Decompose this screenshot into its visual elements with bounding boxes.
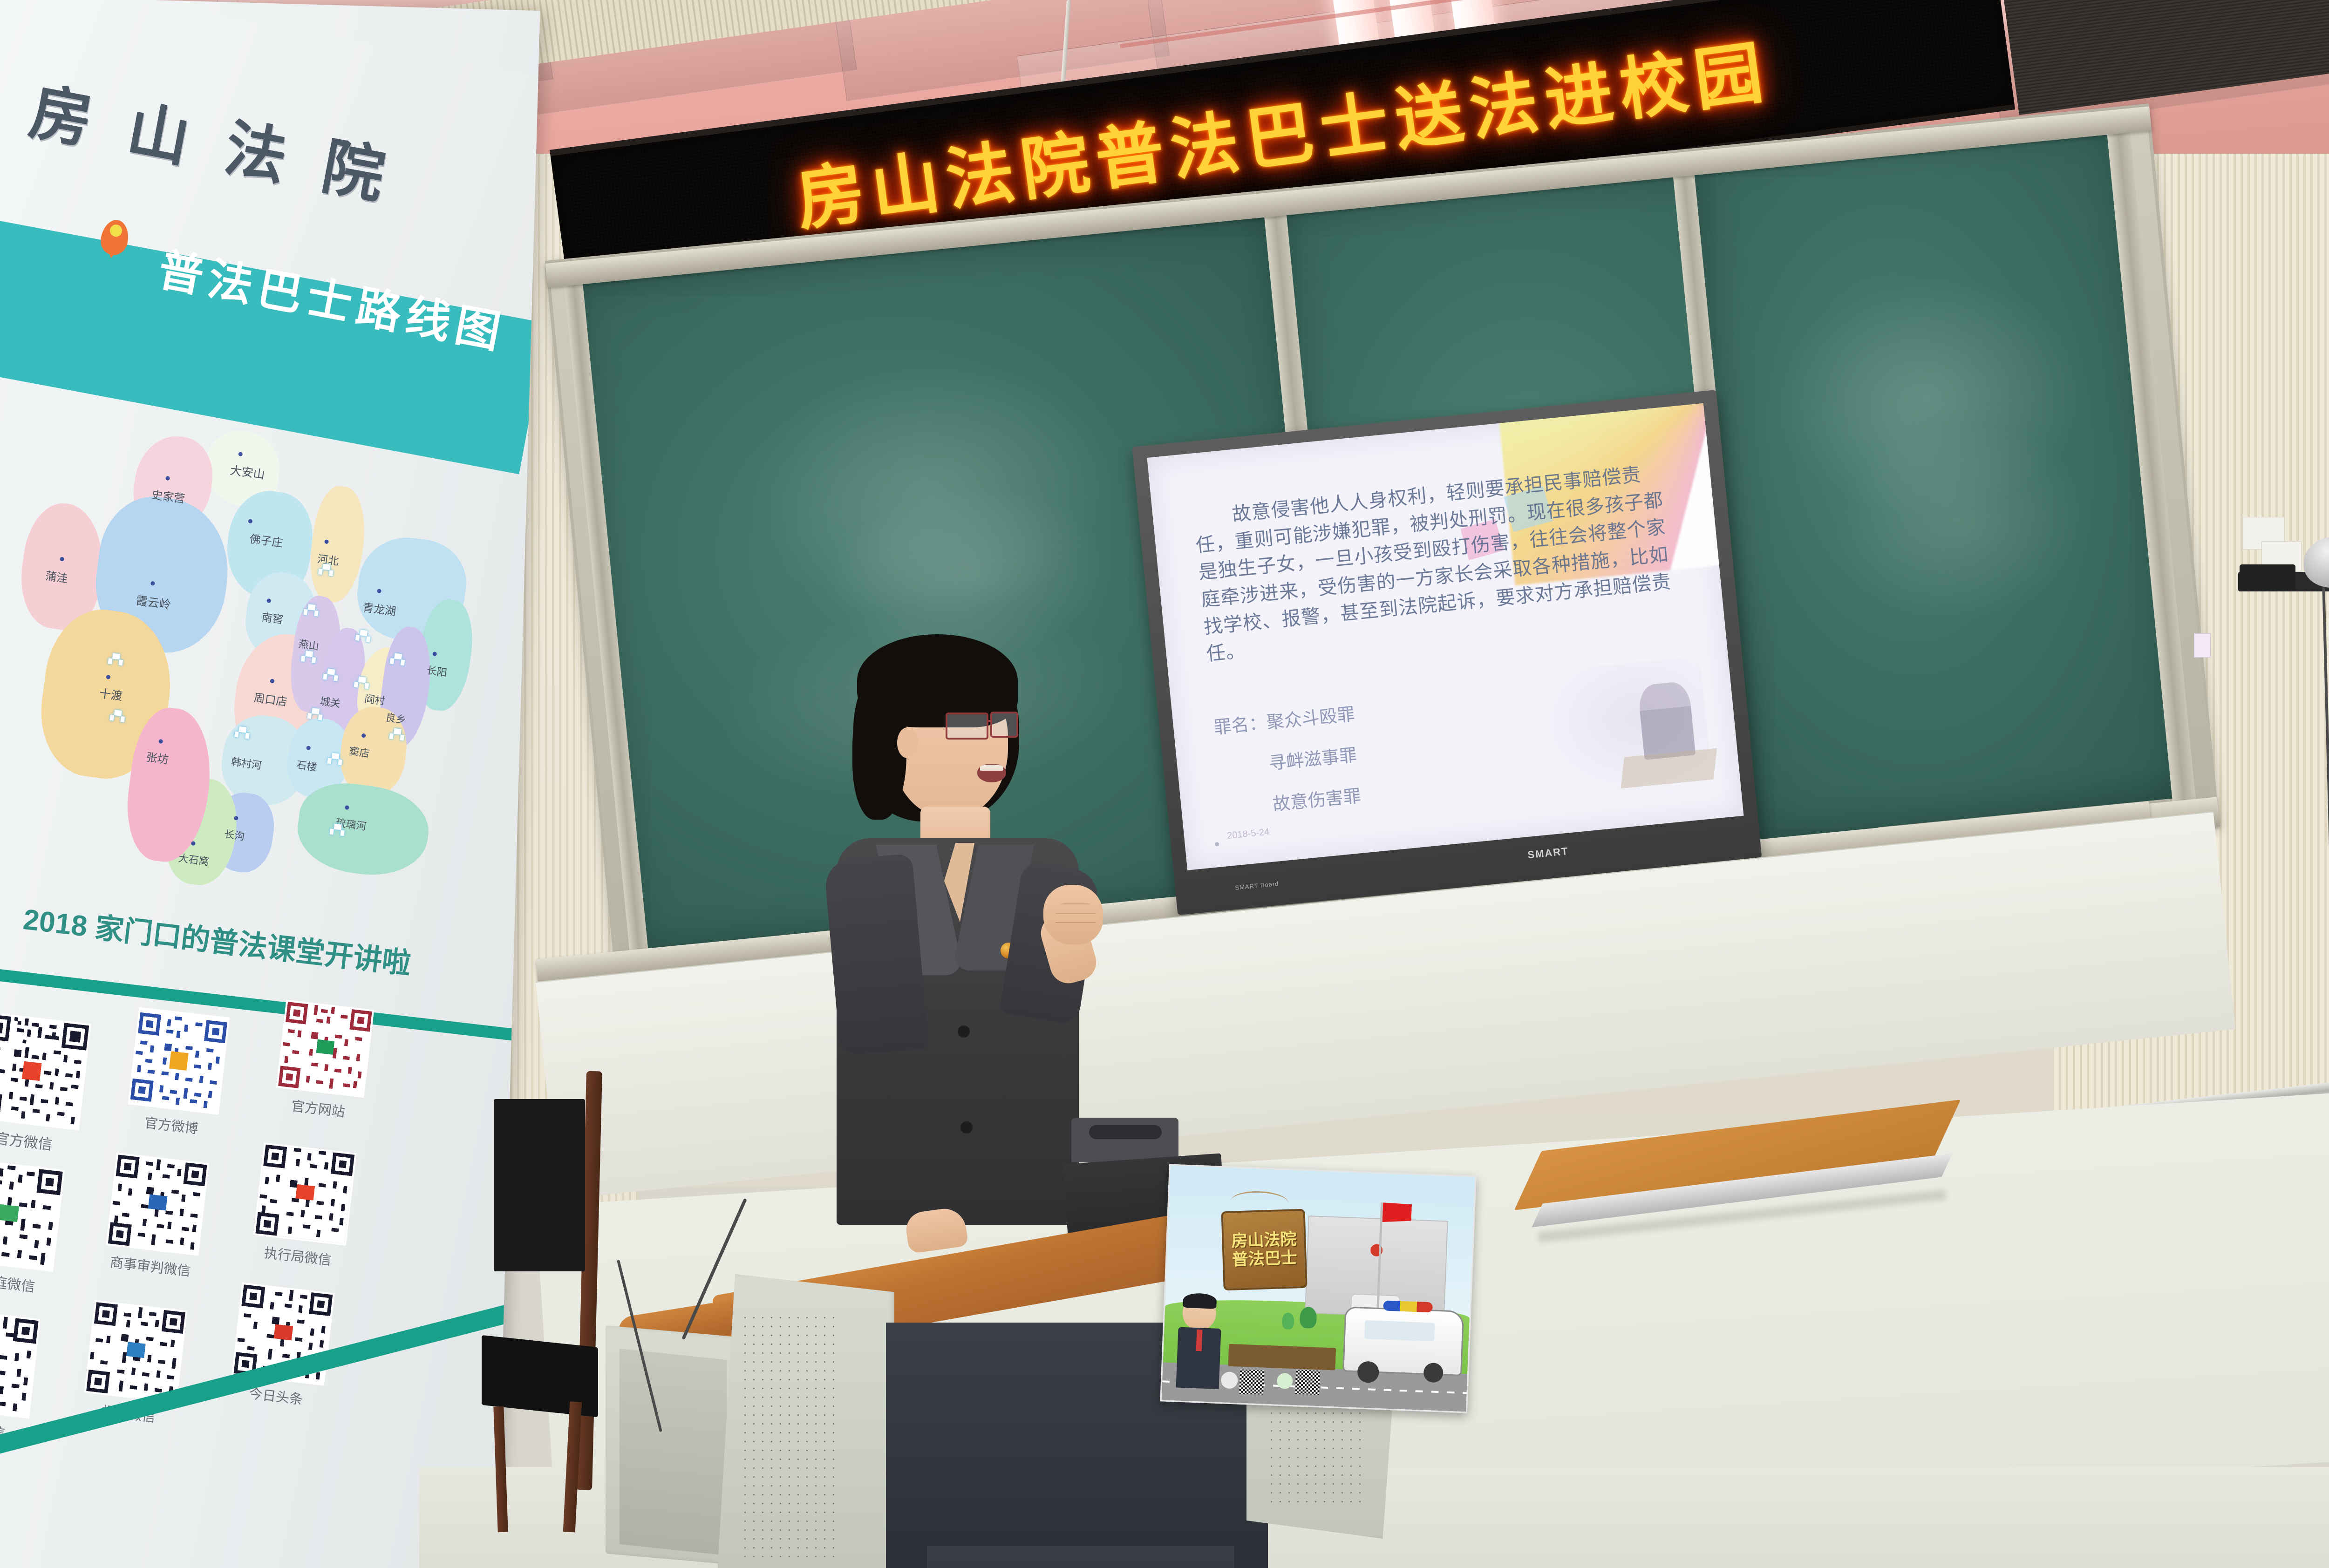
bus-stop-icon-9: ▞▚ xyxy=(390,652,406,666)
ear xyxy=(897,727,918,758)
poster-info-strip xyxy=(1228,1344,1336,1371)
cartoon-judge-tie xyxy=(1196,1330,1203,1351)
bus-stop-icon-12: ▞▚ xyxy=(327,752,343,766)
poster-qr-1 xyxy=(1239,1370,1264,1395)
slide-bullet-1: 罪名：聚众斗殴罪 xyxy=(1212,699,1356,744)
qr-code-0[interactable] xyxy=(0,1011,91,1130)
bus-stop-icon-8: ▞▚ xyxy=(354,676,370,690)
camera-body-left xyxy=(2240,564,2295,591)
bus-stop-icon-5: ▞▚ xyxy=(301,650,317,664)
map-label-12: 阎村 xyxy=(364,691,386,708)
map-label-8: 十渡 xyxy=(98,684,123,704)
lectern-perforation-left xyxy=(741,1313,838,1565)
bus-stop-icon-7: ▞▚ xyxy=(355,629,371,643)
qr-image-2 xyxy=(278,1002,372,1096)
eyeglasses-bridge xyxy=(987,720,992,722)
qr-image-1 xyxy=(130,1009,228,1113)
podium-poster: 房山法院 普法巴士 xyxy=(1160,1164,1476,1413)
map-label-19: 长沟 xyxy=(224,826,246,843)
bus-stop-icon-4: ▞▚ xyxy=(303,604,319,617)
lectern-column xyxy=(927,1546,1234,1568)
poster-qr-2 xyxy=(1295,1370,1320,1395)
china-flag-icon xyxy=(1382,1202,1412,1223)
qr-code-5[interactable] xyxy=(253,1142,357,1246)
lectern-monitor-handle xyxy=(1071,1118,1178,1162)
lectern-left-wing-inner xyxy=(620,1349,727,1555)
rollup-banner: 房 山 法 院 普法巴士路线图 xyxy=(0,0,540,1568)
uniform-button-2 xyxy=(960,1121,973,1134)
bus-stop-icon-11: ▞▚ xyxy=(307,707,323,721)
slide-illustration-figure-icon xyxy=(1637,681,1696,760)
chair-backrest xyxy=(494,1099,585,1271)
poster-wood-sign: 房山法院 普法巴士 xyxy=(1221,1209,1307,1291)
qr-label-1: 官方微博 xyxy=(125,1110,218,1140)
qr-label-2: 官方网站 xyxy=(273,1093,363,1123)
map-label-16: 石楼 xyxy=(296,757,318,774)
qr-image-3 xyxy=(0,1161,63,1270)
qr-image-4 xyxy=(108,1154,207,1254)
classroom-scene: 房山法院普法巴士送法进校园 xyxy=(0,0,2329,1568)
map-label-14: 良乡 xyxy=(385,709,407,727)
lectern-monitor-handle-cutout xyxy=(1089,1125,1162,1139)
fist-knuckle-lines xyxy=(1056,903,1096,931)
bus-stop-icon-14: ▞▚ xyxy=(329,823,345,836)
bus-stop-icon-1: ▞▚ xyxy=(108,652,124,666)
map-label-5: 南窖 xyxy=(261,608,284,627)
slide-bullet-3: 故意伤害罪 xyxy=(1271,781,1362,821)
teeth xyxy=(980,765,1003,771)
poster-tree-1-icon xyxy=(1300,1307,1317,1329)
bus-stop-icon-10: ▞▚ xyxy=(389,728,405,741)
poster-sign-line1: 房山法院 xyxy=(1231,1230,1297,1251)
uniform-button-1 xyxy=(958,1025,970,1038)
bus-stop-icon-3: ▞▚ xyxy=(318,563,334,577)
map-label-2: 蒲洼 xyxy=(45,567,69,586)
qr-image-7 xyxy=(86,1302,185,1401)
qr-code-7[interactable] xyxy=(84,1300,188,1404)
eyeglasses-icon xyxy=(946,713,988,740)
slide-date: 2018-5-24 xyxy=(1226,827,1270,842)
qr-image-5 xyxy=(255,1145,354,1244)
slide-bullet-2: 寻衅滋事罪 xyxy=(1267,740,1358,780)
chair-back-leg xyxy=(493,1406,508,1533)
uniform-sleeve-left xyxy=(824,854,929,1056)
smartboard-screen[interactable]: 故意侵害他人人身权利，轻则要承担民事赔偿责任，重则可能涉嫌犯罪，被判处刑罚。现在… xyxy=(1147,403,1743,870)
bus-stop-icon-2: ▞▚ xyxy=(110,709,126,723)
bus-stop-icon-6: ▞▚ xyxy=(323,668,339,682)
chalkboard-panel-right xyxy=(1691,115,2189,839)
slide-paragraph: 故意侵害他人人身权利，轻则要承担民事赔偿责任，重则可能涉嫌犯罪，被判处刑罚。现在… xyxy=(1192,458,1681,668)
poster-sign-line2: 普法巴士 xyxy=(1232,1249,1297,1269)
qr-code-4[interactable] xyxy=(106,1153,209,1256)
police-bus-lightbar-icon xyxy=(1383,1300,1433,1312)
map-label-17: 窦店 xyxy=(348,743,371,760)
slide-bullet-dot-4 xyxy=(1215,842,1219,847)
wall-notice-card xyxy=(2194,633,2211,658)
police-bus-window xyxy=(1364,1320,1435,1342)
map-label-21: 张坊 xyxy=(145,748,170,767)
qr-code-6[interactable] xyxy=(0,1308,41,1419)
qr-code-1[interactable] xyxy=(128,1007,230,1114)
map-label-11: 城关 xyxy=(319,693,341,711)
poster-tree-2-icon xyxy=(1282,1312,1294,1330)
qr-image-0 xyxy=(0,1014,89,1128)
eyeglasses-lens-right xyxy=(990,712,1018,738)
qr-code-3[interactable] xyxy=(0,1158,65,1272)
map-label-13: 长阳 xyxy=(426,662,448,680)
qr-code-2[interactable] xyxy=(276,1000,375,1098)
qr-image-6 xyxy=(0,1310,39,1416)
smartboard-assembly[interactable]: 故意侵害他人人身权利，轻则要承担民事赔偿责任，重则可能涉嫌犯罪，被判处刑罚。现在… xyxy=(1132,390,1762,915)
fangshan-district-map: 大安山 史家营 蒲洼 霞云岭 佛子庄 南窖 河北 青龙湖 十渡 周口店 燕山 城… xyxy=(0,397,492,921)
bus-stop-icon-13: ▞▚ xyxy=(234,726,250,740)
